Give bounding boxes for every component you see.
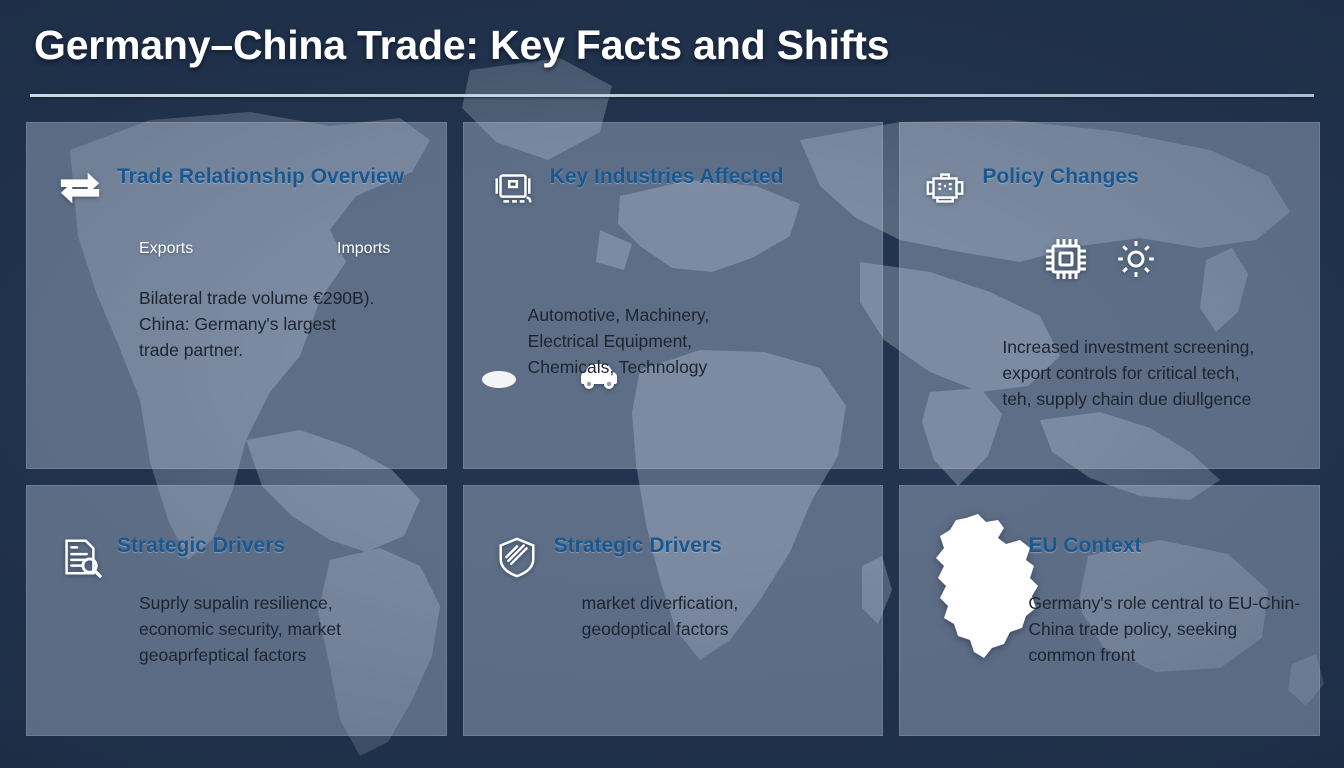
exports-label: Exports bbox=[139, 240, 337, 258]
page-title: Germany–China Trade: Key Facts and Shift… bbox=[34, 22, 889, 69]
card-policy-changes[interactable]: Policy Changes bbox=[899, 122, 1320, 469]
card-title: Policy Changes bbox=[982, 165, 1138, 188]
policy-icon-row bbox=[1040, 233, 1158, 285]
shield-icon bbox=[494, 534, 540, 580]
card-heading-row: EU Context bbox=[1028, 534, 1305, 557]
card-trade-relationship-overview[interactable]: Trade Relationship Overview Exports Impo… bbox=[26, 122, 447, 469]
exchange-arrows-icon bbox=[57, 165, 103, 211]
card-heading-row: Trade Relationship Overview bbox=[57, 165, 428, 211]
card-heading-text-group: Strategic Drivers bbox=[554, 534, 861, 557]
factory-icon bbox=[490, 165, 536, 211]
card-body-text: Increased investment screening, export c… bbox=[1002, 335, 1313, 413]
card-title: Strategic Drivers bbox=[117, 534, 285, 557]
card-heading-text-group: Policy Changes bbox=[982, 165, 1297, 188]
imports-label: Imports bbox=[337, 240, 390, 258]
card-heading-row: Strategic Drivers bbox=[494, 534, 861, 580]
card-title: Key Industries Affected bbox=[550, 165, 784, 188]
card-heading-text-group: Key Industries Affected bbox=[550, 165, 865, 188]
card-heading-text-group: Trade Relationship Overview bbox=[117, 165, 428, 188]
card-heading-row: Strategic Drivers bbox=[57, 534, 424, 580]
card-heading-text-group: EU Context bbox=[1028, 534, 1305, 557]
card-body-text: Germany's role central to EU-Chin- China… bbox=[1028, 591, 1320, 669]
document-search-icon bbox=[57, 534, 103, 580]
infographic-root: Germany–China Trade: Key Facts and Shift… bbox=[0, 0, 1344, 768]
card-body-text: Automotive, Machinery, Electrical Equipm… bbox=[528, 303, 867, 381]
card-strategic-drivers-security[interactable]: Strategic Drivers market diverfication, … bbox=[463, 485, 884, 736]
card-title: Strategic Drivers bbox=[554, 534, 722, 557]
card-heading-row: Policy Changes bbox=[922, 165, 1297, 211]
card-title: EU Context bbox=[1028, 534, 1141, 557]
decorative-blob-icon bbox=[482, 371, 516, 388]
card-title: Trade Relationship Overview bbox=[117, 165, 404, 188]
page-header: Germany–China Trade: Key Facts and Shift… bbox=[0, 0, 1344, 104]
government-building-icon bbox=[922, 165, 968, 211]
card-eu-context[interactable]: EU Context Germany's role central to EU-… bbox=[899, 485, 1320, 736]
header-divider bbox=[30, 94, 1314, 97]
card-grid: Trade Relationship Overview Exports Impo… bbox=[26, 122, 1320, 736]
card-body-text: Suprly supalin resilience, economic secu… bbox=[139, 591, 432, 669]
card-body-text: market diverfication, geodoptical factor… bbox=[582, 591, 869, 643]
card-body-text: Bilateral trade volume €290B). China: Ge… bbox=[139, 286, 428, 364]
card-heading-row: Key Industries Affected bbox=[490, 165, 865, 211]
card-key-industries-affected[interactable]: Key Industries Affected Automotive, Mach… bbox=[463, 122, 884, 469]
card-strategic-drivers-analysis[interactable]: Strategic Drivers Suprly supalin resilie… bbox=[26, 485, 447, 736]
card-heading-text-group: Strategic Drivers bbox=[117, 534, 424, 557]
gear-icon bbox=[1114, 237, 1158, 281]
microchip-icon bbox=[1040, 233, 1092, 285]
trade-direction-labels: Exports Imports bbox=[139, 240, 390, 258]
